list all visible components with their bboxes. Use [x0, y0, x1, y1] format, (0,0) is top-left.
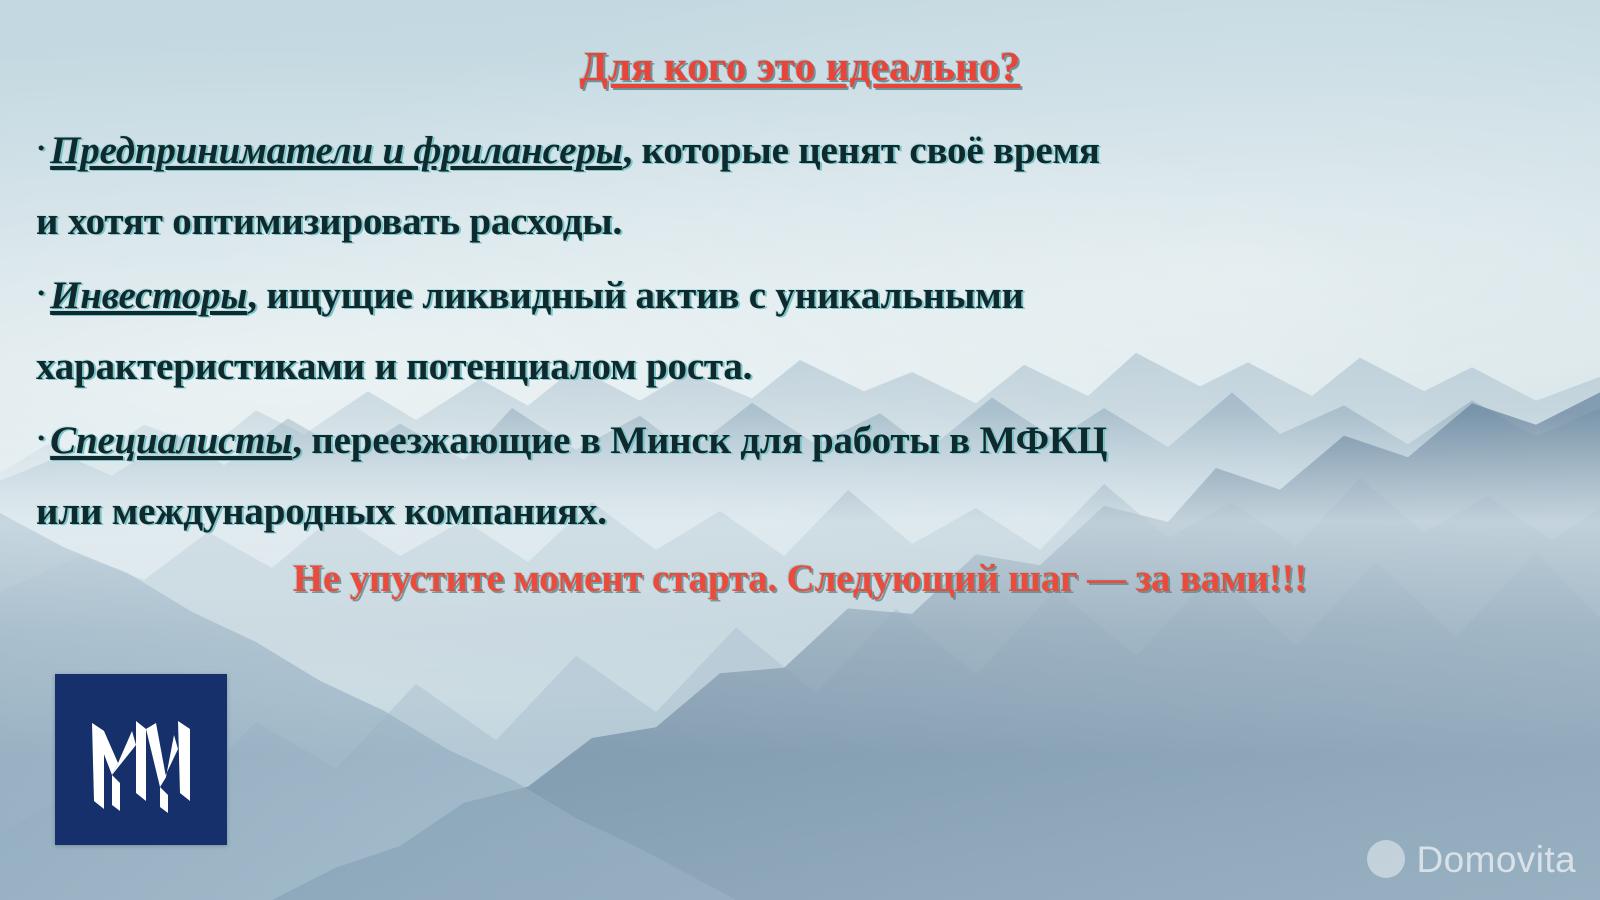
slide-canvas: Для кого это идеально? ·Предприниматели … [0, 0, 1600, 900]
list-item-1-rest: , которые ценят своё время [623, 129, 1100, 172]
mw-monogram-icon [82, 701, 200, 819]
watermark-label: Domovita [1417, 841, 1576, 878]
list-item-3-rest: , переезжающие в Минск для работы в МФКЦ [292, 419, 1107, 462]
list-item-1-continuation: и хотят оптимизировать расходы. [36, 186, 1570, 257]
slide-content: Для кого это идеально? ·Предприниматели … [0, 0, 1600, 900]
list-item-3-continuation: или международных компаниях. [36, 476, 1570, 547]
domovita-watermark: Domovita [1367, 840, 1576, 878]
call-to-action-text: Не упустите момент старта. Следующий шаг… [0, 556, 1600, 601]
list-item-specialists: ·Специалисты, переезжающие в Минск для р… [36, 402, 1570, 476]
list-item-2-continuation: характеристиками и потенциалом роста. [36, 331, 1570, 402]
list-item-2-rest: , ищущие ликвидный актив с уникальными [247, 274, 1024, 317]
bullet-glyph-2: · [36, 275, 50, 310]
list-item-3-emphasis: Специалисты [50, 419, 292, 462]
list-item-3-continuation-text: или международных компаниях. [36, 490, 607, 533]
bullet-glyph-3: · [36, 420, 50, 455]
list-item-2-emphasis: Инвесторы [50, 274, 247, 317]
bullet-glyph-1: · [36, 130, 50, 165]
list-item-entrepreneurs: ·Предприниматели и фрилансеры, которые ц… [36, 112, 1570, 186]
brand-logo[interactable] [55, 674, 227, 845]
list-item-1-continuation-text: и хотят оптимизировать расходы. [36, 200, 622, 243]
circle-icon [1367, 840, 1405, 878]
page-title: Для кого это идеально? [0, 42, 1600, 90]
list-item-2-continuation-text: характеристиками и потенциалом роста. [36, 345, 752, 388]
bullet-list: ·Предприниматели и фрилансеры, которые ц… [36, 112, 1570, 547]
list-item-investors: ·Инвесторы, ищущие ликвидный актив с уни… [36, 257, 1570, 331]
list-item-1-emphasis: Предприниматели и фрилансеры [50, 129, 622, 172]
